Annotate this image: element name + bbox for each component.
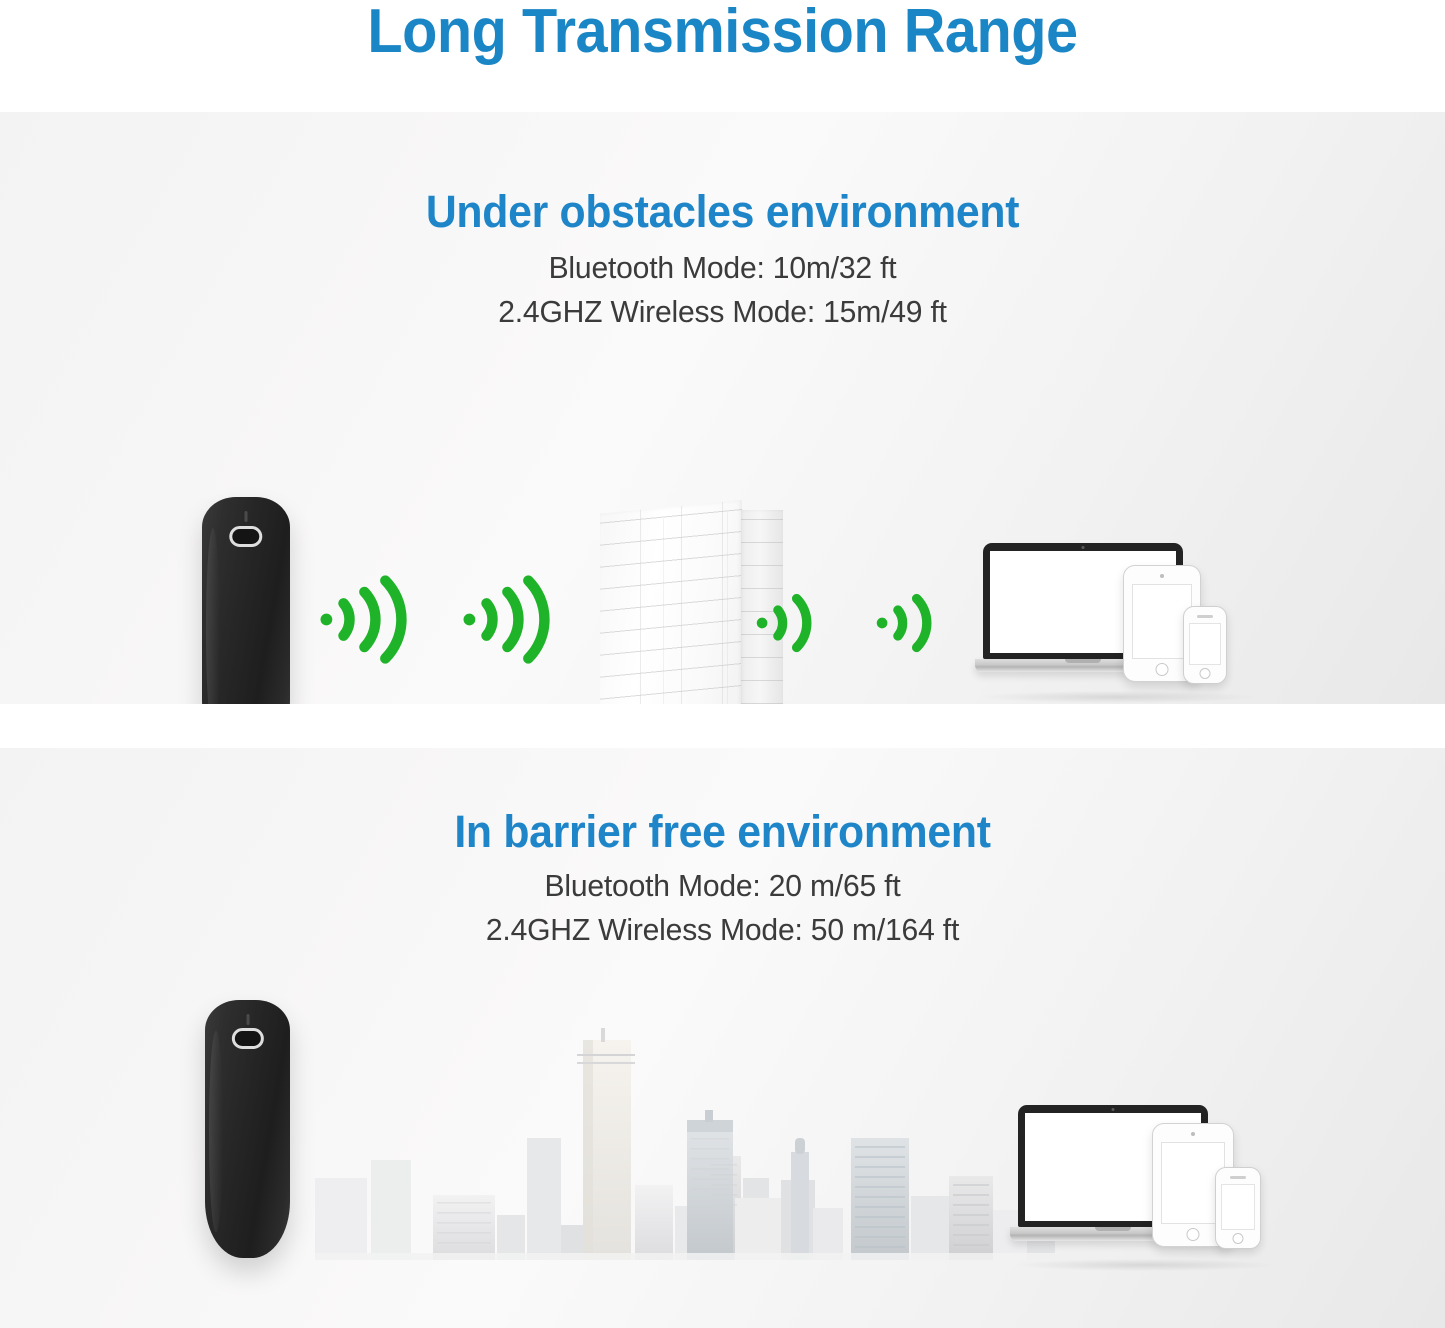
signal-wave-icon-weak — [752, 587, 824, 659]
tablet-home-button-icon — [1187, 1228, 1200, 1241]
section-under-obstacles: Under obstacles environment Bluetooth Mo… — [0, 112, 1445, 704]
page-title: Long Transmission Range — [51, 0, 1395, 67]
laptop-trackpad-notch — [1095, 1227, 1131, 1231]
section-title-barrier-free: In barrier free environment — [36, 806, 1409, 858]
smartphone-device — [1215, 1167, 1261, 1249]
phone-screen — [1221, 1184, 1255, 1230]
spec-bluetooth-range-obstacles: Bluetooth Mode: 10m/32 ft — [22, 250, 1424, 286]
scanner-indicator-led — [246, 1014, 249, 1025]
spec-bluetooth-range-barrier-free: Bluetooth Mode: 20 m/65 ft — [22, 868, 1424, 904]
phone-screen — [1189, 623, 1221, 665]
spec-wireless-range-barrier-free: 2.4GHZ Wireless Mode: 50 m/164 ft — [22, 912, 1424, 948]
phone-home-button-icon — [1233, 1233, 1244, 1244]
tablet-camera-icon — [1160, 574, 1164, 578]
laptop-trackpad-notch — [1065, 659, 1101, 663]
wall-front-face — [600, 500, 742, 704]
scanner-indicator-led — [245, 511, 248, 522]
receiving-devices-group — [975, 537, 1260, 697]
signal-wave-icon — [315, 572, 410, 667]
phone-home-button-icon — [1200, 668, 1211, 679]
section-barrier-free: In barrier free environment Bluetooth Mo… — [0, 748, 1445, 1328]
barcode-scanner-device — [202, 497, 290, 704]
phone-speaker-icon — [1230, 1176, 1246, 1179]
scanner-scan-button — [229, 526, 262, 547]
phone-speaker-icon — [1197, 615, 1213, 618]
signal-wave-icon-weak — [872, 587, 944, 659]
receiving-devices-group — [1010, 1105, 1280, 1265]
scanner-scan-button — [231, 1028, 263, 1048]
product-feature-graphic: Long Transmission Range Under obstacles … — [0, 0, 1445, 1328]
devices-shadow — [1016, 1259, 1275, 1271]
city-skyline-backdrop — [315, 1010, 1055, 1260]
devices-shadow — [981, 691, 1255, 703]
scanner-body — [205, 1000, 290, 1258]
section-title-under-obstacles: Under obstacles environment — [36, 186, 1409, 238]
scanner-body — [202, 497, 290, 704]
signal-wave-icon — [458, 572, 553, 667]
barcode-scanner-device — [205, 1000, 290, 1258]
laptop-camera-icon — [1112, 1108, 1115, 1111]
smartphone-device — [1183, 606, 1227, 684]
tablet-camera-icon — [1191, 1132, 1195, 1136]
spec-wireless-range-obstacles: 2.4GHZ Wireless Mode: 15m/49 ft — [22, 294, 1424, 330]
tablet-home-button-icon — [1156, 663, 1169, 676]
laptop-camera-icon — [1082, 546, 1085, 549]
